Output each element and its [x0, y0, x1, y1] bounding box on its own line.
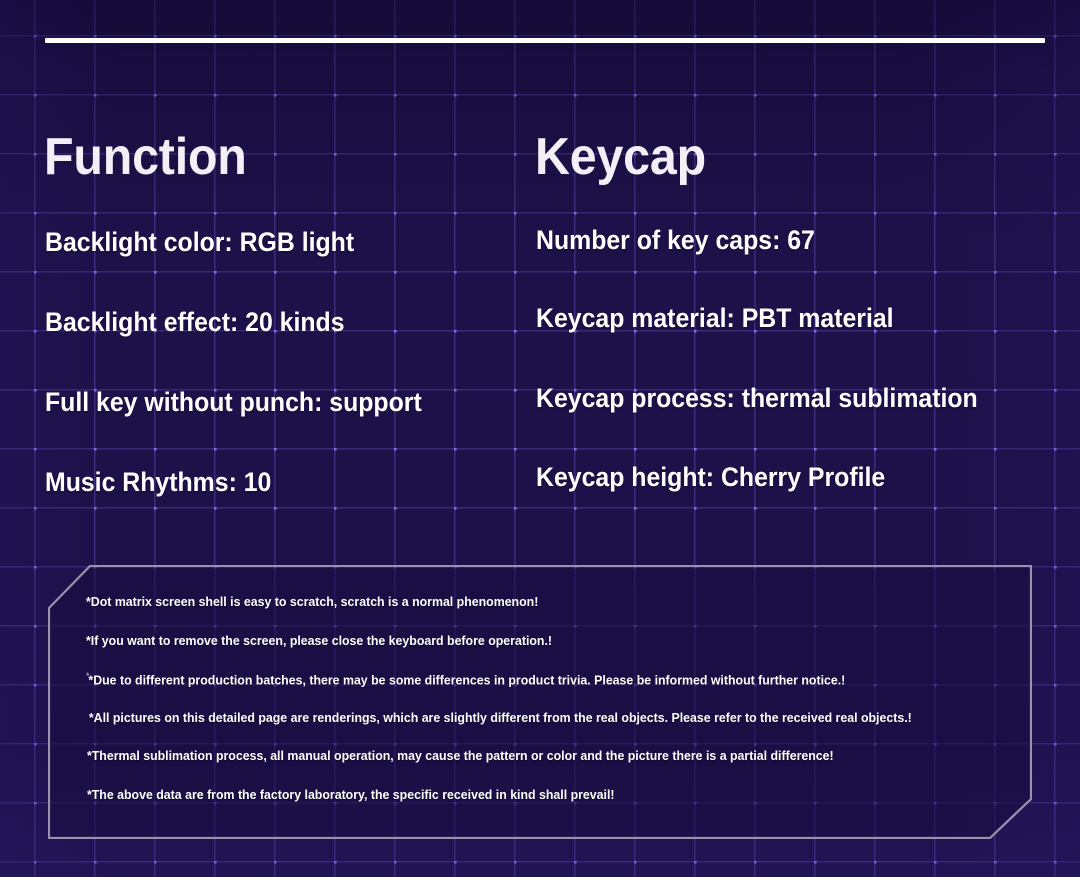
note-item: *Dot matrix screen shell is easy to scra…	[86, 595, 960, 634]
disclaimer-box: *Dot matrix screen shell is easy to scra…	[48, 565, 1032, 839]
spec-number-of-key-caps: Number of key caps: 67	[536, 227, 815, 254]
spec-backlight-color: Backlight color: RGB light	[45, 229, 354, 256]
note-item: *If you want to remove the screen, pleas…	[86, 634, 960, 673]
note-item: *The above data are from the factory lab…	[86, 788, 960, 827]
spec-keycap-process: Keycap process: thermal sublimation	[536, 385, 978, 412]
note-item: *All pictures on this detailed page are …	[86, 711, 960, 750]
spec-music-rhythms: Music Rhythms: 10	[45, 469, 271, 496]
note-item: *Thermal sublimation process, all manual…	[86, 749, 960, 788]
spec-keycap-height: Keycap height: Cherry Profile	[536, 464, 885, 491]
spec-backlight-effect: Backlight effect: 20 kinds	[45, 309, 345, 336]
keycap-section-title: Keycap	[535, 131, 706, 183]
product-spec-slide: Function Backlight color: RGB light Back…	[0, 0, 1080, 877]
top-divider-rule	[45, 38, 1045, 43]
function-section-title: Function	[44, 131, 247, 183]
spec-full-key-without-punch: Full key without punch: support	[45, 389, 422, 416]
disclaimer-note-list: *Dot matrix screen shell is easy to scra…	[86, 595, 1006, 826]
spec-keycap-material: Keycap material: PBT material	[536, 305, 894, 332]
note-item: *Due to different production batches, th…	[86, 672, 960, 711]
